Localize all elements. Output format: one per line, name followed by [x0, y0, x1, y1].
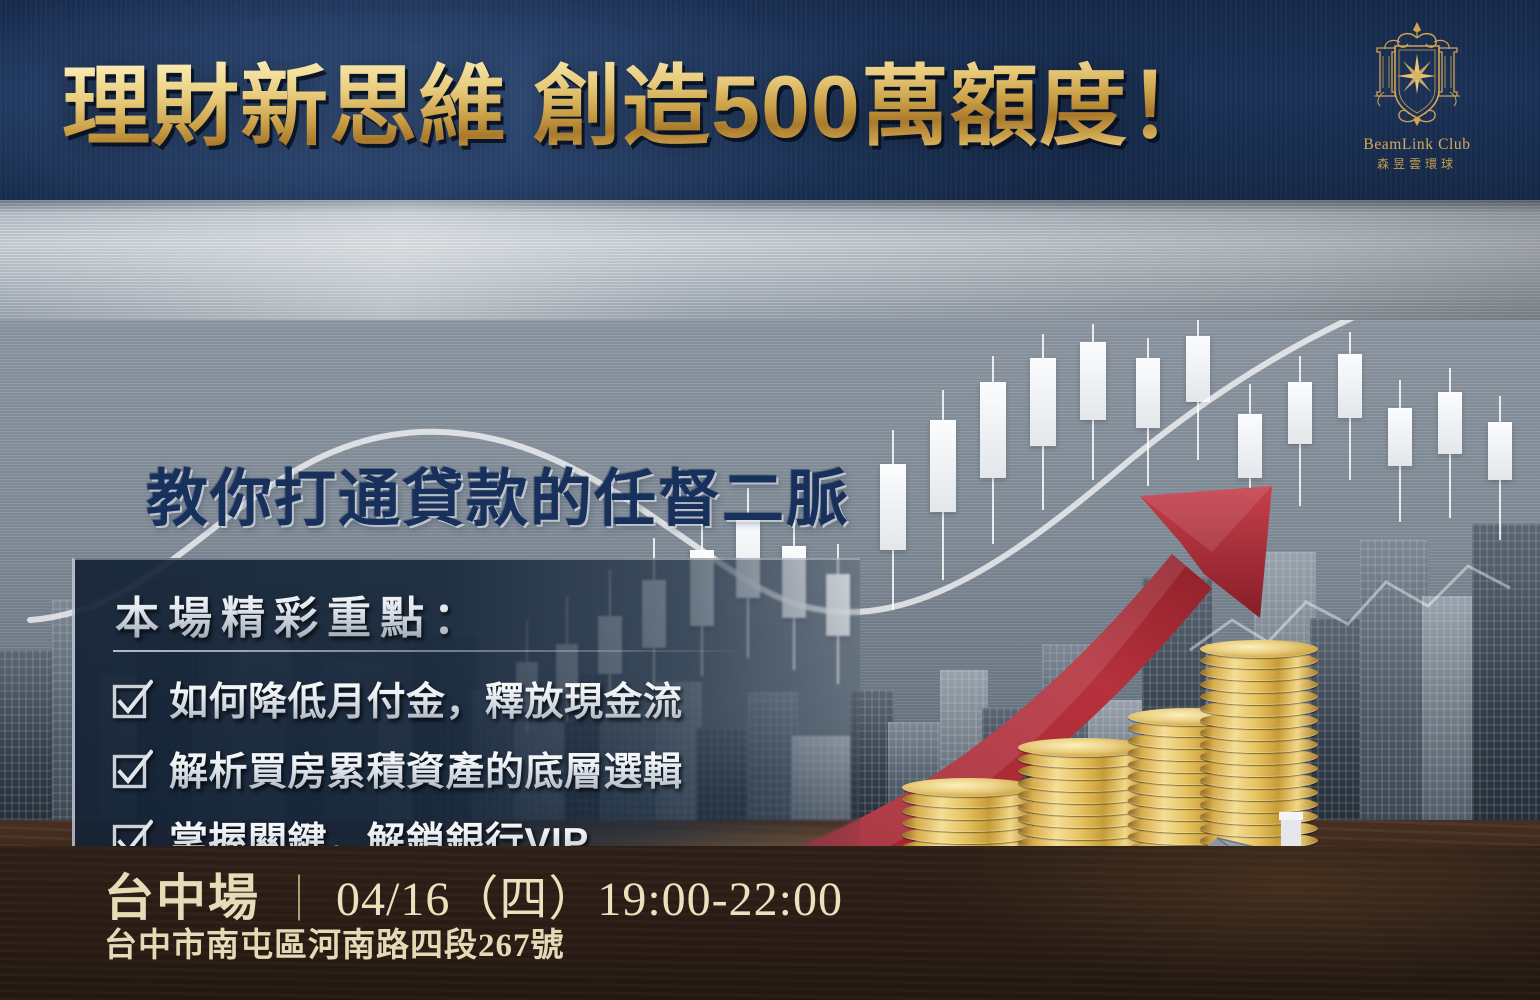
checked-checkbox-icon — [111, 678, 153, 720]
logo-name-en: BeamLink Club — [1363, 136, 1470, 154]
subtitle-text: 教你打通貸款的任督二脈 — [146, 448, 850, 538]
page-title: 理財新思維 創造500萬額度！ — [62, 52, 1322, 162]
shield-emblem-icon — [1356, 18, 1478, 134]
logo-name-zh: 森昱雲環球 — [1377, 155, 1457, 172]
heading-divider — [113, 650, 753, 652]
list-item: 如何降低月付金，釋放現金流 — [103, 664, 843, 734]
poster-canvas: 理財新思維 創造500萬額度！ — [0, 0, 1540, 1000]
event-address: 台中市南屯區河南路四段267號 — [104, 918, 565, 966]
list-item-label: 如何降低月付金，釋放現金流 — [169, 671, 683, 727]
headline-part-1: 理財新思維 — [62, 63, 507, 151]
poster-header: 理財新思維 創造500萬額度！ — [0, 0, 1540, 200]
checked-checkbox-icon — [111, 748, 153, 790]
list-item: 解析買房累積資產的底層選輯 — [103, 734, 843, 804]
list-item-label: 解析買房累積資產的底層選輯 — [169, 741, 683, 797]
footer-glow — [940, 846, 1540, 986]
headline-part-2: 創造500萬額度！ — [533, 63, 1217, 151]
brand-logo: BeamLink Club 森昱雲環球 — [1332, 18, 1502, 186]
highlights-heading: 本場精彩重點： — [115, 582, 486, 646]
